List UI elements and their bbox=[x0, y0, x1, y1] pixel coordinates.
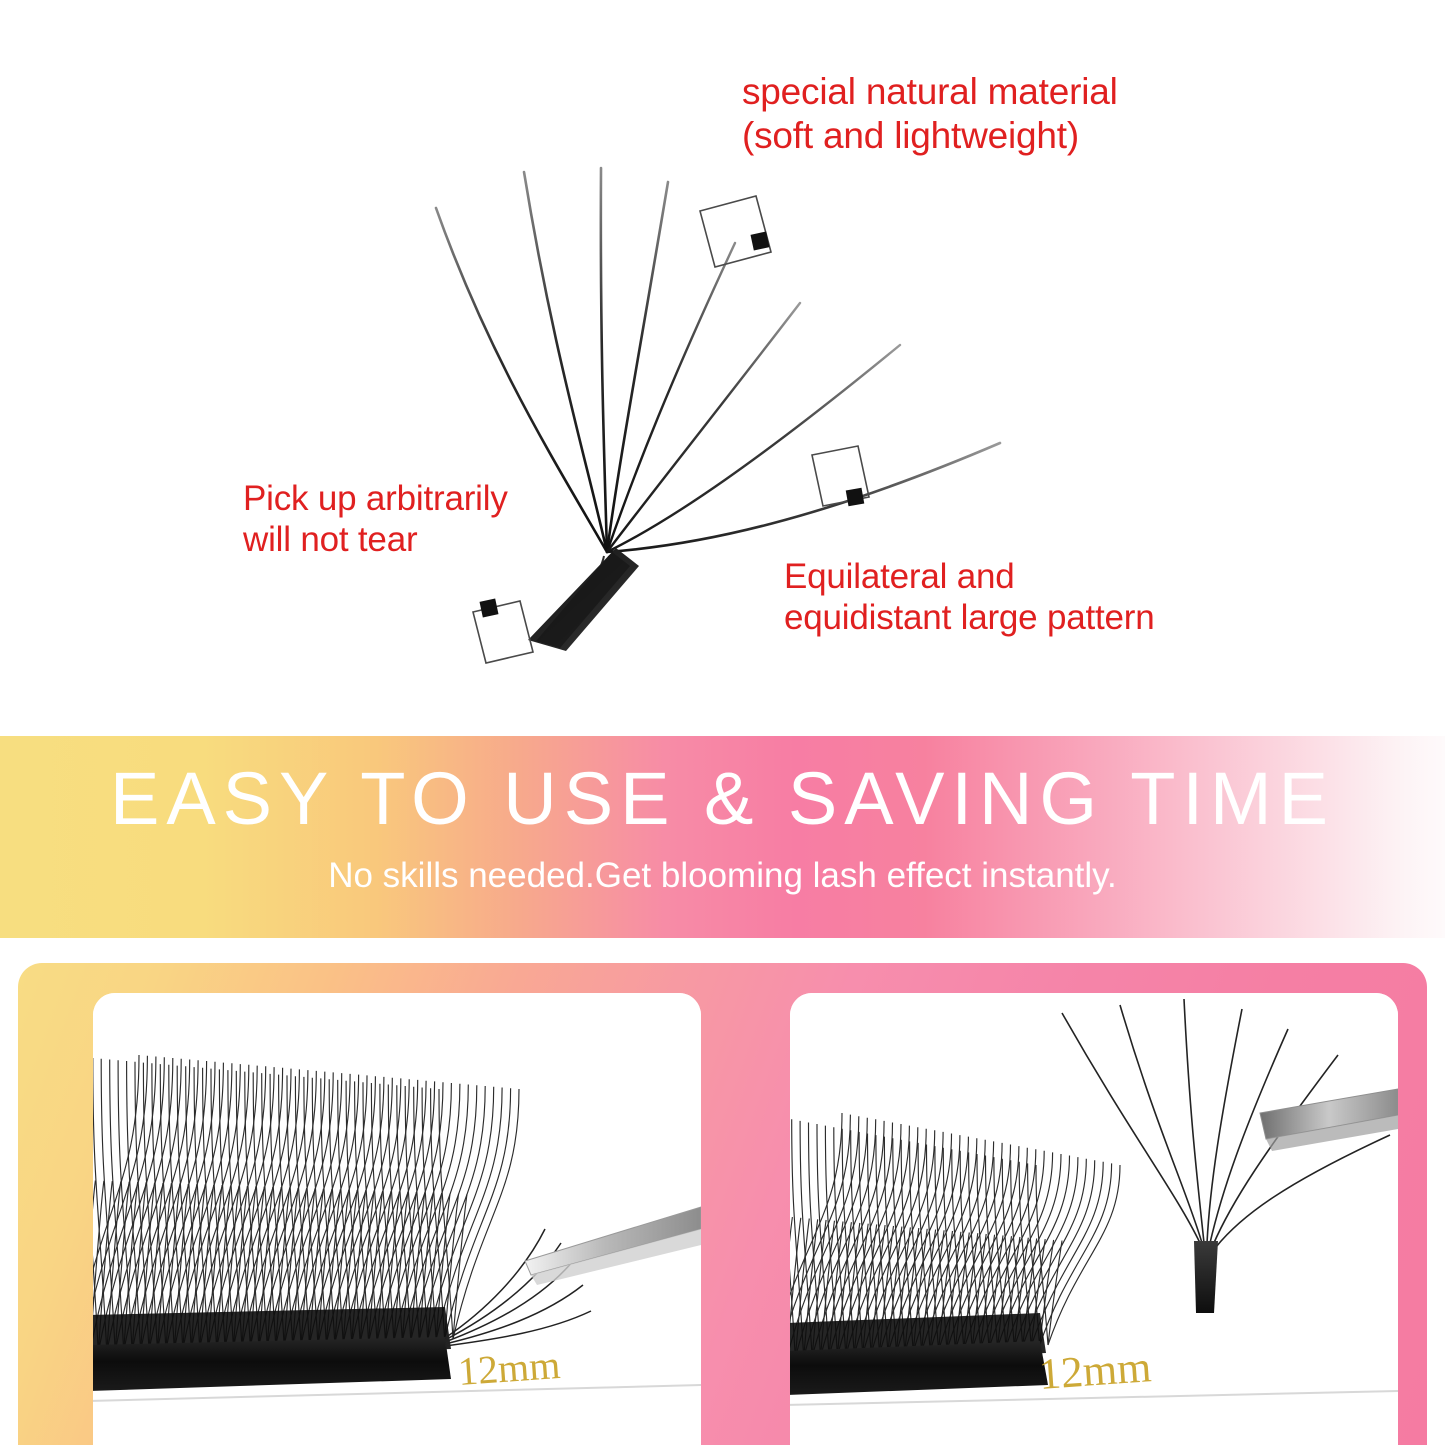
tray-size-label-left: 12mm bbox=[456, 1342, 561, 1394]
callout-label-equilateral: Equilateral and equidistant large patter… bbox=[784, 556, 1155, 639]
callout-marker-right bbox=[812, 446, 869, 506]
callout-label-pickup: Pick up arbitrarily will not tear bbox=[243, 478, 508, 561]
feature-illustration-section: special natural material (soft and light… bbox=[0, 0, 1445, 735]
promo-banner-title: EASY TO USE & SAVING TIME bbox=[0, 762, 1445, 836]
promo-banner: EASY TO USE & SAVING TIME No skills need… bbox=[0, 736, 1445, 938]
lifted-fan-base-right bbox=[1194, 1241, 1218, 1313]
callout-marker-top bbox=[700, 196, 771, 267]
callout-label-material: special natural material (soft and light… bbox=[742, 70, 1118, 157]
photo-card-left: 12mm bbox=[93, 993, 701, 1445]
photo-card-right: 12mm bbox=[790, 993, 1398, 1445]
lash-base bbox=[528, 548, 639, 651]
lash-tray-photo-left: 12mm bbox=[93, 993, 701, 1445]
callout-marker-base bbox=[473, 599, 533, 663]
tray-size-label-right: 12mm bbox=[1037, 1342, 1153, 1399]
lash-tray-photo-right: 12mm bbox=[790, 993, 1398, 1445]
lash-strands bbox=[436, 168, 1000, 552]
lash-fan-diagram bbox=[0, 0, 1445, 735]
promo-banner-subtitle: No skills needed.Get blooming lash effec… bbox=[0, 858, 1445, 893]
photo-cards-panel: 12mm bbox=[18, 963, 1427, 1445]
